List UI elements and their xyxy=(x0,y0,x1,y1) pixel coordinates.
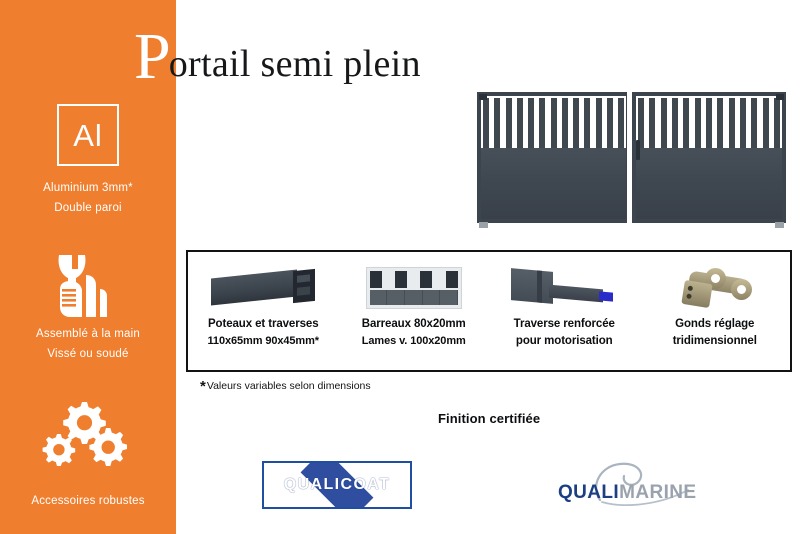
qualimarine-logo-text: QUALIMARINE xyxy=(558,482,696,504)
gate-post-cap xyxy=(776,94,784,100)
gate-illustration xyxy=(477,92,786,223)
feature-caption-line2: 110x65mm 90x45mm* xyxy=(208,333,319,350)
sidebar-label-aluminium-1: Aluminium 3mm* xyxy=(0,178,176,198)
bars-sample-icon xyxy=(339,260,490,316)
sidebar-label-assembly-2: Vissé ou soudé xyxy=(0,344,176,364)
aluminium-square-icon: Al xyxy=(57,104,119,166)
page-title: P ortail semi plein xyxy=(134,22,421,84)
gate-post-cap xyxy=(479,94,487,100)
sidebar-label-assembly-1: Assemblé à la main xyxy=(0,324,176,344)
sidebar-label-aluminium-2: Double paroi xyxy=(0,198,176,218)
aluminium-symbol: Al xyxy=(73,120,103,151)
footnote-text: Valeurs variables selon dimensions xyxy=(207,380,371,392)
feature-caption-line2: tridimensionnel xyxy=(673,333,757,350)
qualicoat-logo-text: QUALICOAT xyxy=(284,476,391,494)
footnote-star: * xyxy=(200,378,206,395)
qualicoat-logo: QUALICOAT xyxy=(262,461,412,509)
gate-handle-icon xyxy=(636,140,640,160)
aluminium-profile-icon xyxy=(188,260,339,316)
gate-foot xyxy=(775,222,784,228)
hand-wrench-icon xyxy=(0,253,176,324)
gate-leaf-left xyxy=(477,92,630,223)
sidebar-feature-assembly: Assemblé à la main Vissé ou soudé xyxy=(0,253,176,364)
sidebar-label-accessories: Accessoires robustes xyxy=(0,491,176,511)
gate-leaf-right xyxy=(632,92,786,223)
feature-traverse: Traverse renforcée pour motorisation xyxy=(489,252,640,370)
feature-gonds: Gonds réglage tridimensionnel xyxy=(640,252,791,370)
feature-caption-line1: Poteaux et traverses xyxy=(208,316,319,333)
gate-foot xyxy=(479,222,488,228)
feature-caption-line2: pour motorisation xyxy=(516,333,613,350)
certification-title: Finition certifiée xyxy=(438,411,540,426)
reinforced-crossbeam-icon xyxy=(489,260,640,316)
sidebar-feature-accessories: Accessoires robustes xyxy=(0,400,176,511)
feature-caption-line2: Lames v. 100x20mm xyxy=(362,333,466,350)
feature-barreaux: Barreaux 80x20mm Lames v. 100x20mm xyxy=(339,252,490,370)
feature-poteaux: Poteaux et traverses 110x65mm 90x45mm* xyxy=(188,252,339,370)
footnote: *Valeurs variables selon dimensions xyxy=(200,379,371,394)
qualimarine-text-primary: QUALI xyxy=(558,482,619,503)
title-drop-cap: P xyxy=(134,24,171,90)
hinge-icon xyxy=(640,260,791,316)
gate-bars-right xyxy=(638,98,780,148)
qualimarine-text-secondary: MARINE xyxy=(619,482,696,503)
gate-panel-right xyxy=(636,148,782,219)
gears-icon xyxy=(0,400,176,477)
feature-box: Poteaux et traverses 110x65mm 90x45mm* B… xyxy=(186,250,792,372)
feature-caption-line1: Barreaux 80x20mm xyxy=(362,316,466,333)
feature-caption-line1: Gonds réglage xyxy=(675,316,754,333)
gate-panel-left xyxy=(481,148,626,219)
gate-bars-left xyxy=(483,98,624,148)
feature-caption-line1: Traverse renforcée xyxy=(514,316,615,333)
product-spec-sheet: Al Aluminium 3mm* Double paroi Assemblé … xyxy=(0,0,800,534)
sidebar-feature-aluminium: Al Aluminium 3mm* Double paroi xyxy=(0,104,176,218)
qualimarine-logo: QUALIMARINE xyxy=(558,462,718,508)
title-text: ortail semi plein xyxy=(169,45,421,83)
